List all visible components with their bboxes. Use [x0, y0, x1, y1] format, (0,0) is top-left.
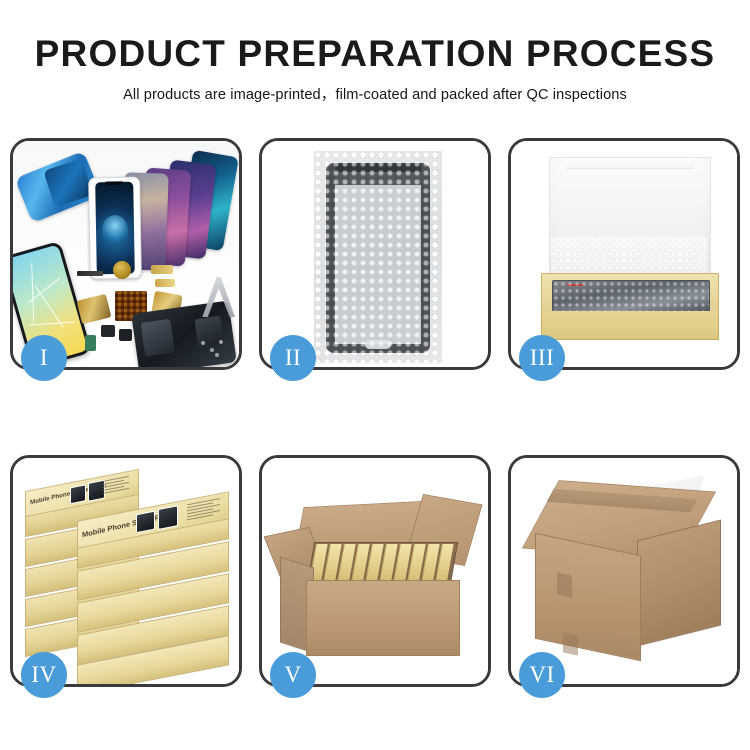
- label-spec-lines: [103, 475, 133, 496]
- wallpaper-glow: [102, 215, 129, 245]
- copper-coil-part: [113, 261, 131, 279]
- step-panel-6: VI: [508, 455, 740, 687]
- crack-line: [35, 285, 64, 327]
- phone-screen-fan: [81, 153, 231, 263]
- step-panel-5: V: [259, 455, 491, 687]
- step-badge-5: V: [270, 652, 316, 698]
- step-6-image: [511, 458, 737, 684]
- flex-cable-part: [151, 265, 173, 274]
- header: PRODUCT PREPARATION PROCESS All products…: [0, 34, 750, 104]
- steps-grid: I II: [10, 138, 740, 687]
- home-button: [365, 340, 391, 349]
- box-stack: Mobile Phone Spare Parts: [21, 480, 239, 676]
- page-title: PRODUCT PREPARATION PROCESS: [0, 34, 750, 74]
- flex-cable-part: [155, 279, 175, 287]
- carton-front-panel: [306, 580, 460, 656]
- wrapped-phone-screen: [326, 163, 430, 353]
- screws-group: [201, 339, 227, 357]
- small-component-part: [101, 325, 115, 337]
- tape-tab: [563, 632, 578, 655]
- product-preparation-infographic: PRODUCT PREPARATION PROCESS All products…: [0, 0, 750, 750]
- step-2-image: [262, 141, 488, 367]
- label-mark: [567, 284, 583, 286]
- tape-tab: [557, 572, 572, 597]
- sealed-carton-front: [535, 533, 641, 662]
- screw-icon: [201, 341, 205, 345]
- battery-connector-part: [85, 335, 96, 351]
- step-badge-2: II: [270, 335, 316, 381]
- step-1-image: [13, 141, 239, 367]
- step-3-image: [511, 141, 737, 367]
- label-spec-lines: [187, 497, 223, 522]
- ribbon-cable-part: [77, 294, 112, 325]
- screen-top-bezel: [335, 163, 421, 185]
- sealed-carton-right-side: [637, 520, 721, 647]
- label-phone-image: [136, 511, 155, 534]
- wrapped-screen-in-box: [552, 280, 710, 312]
- step-panel-4: Mobile Phone Spare Parts: [10, 455, 242, 687]
- step-badge-4: IV: [21, 652, 67, 698]
- screw-icon: [219, 340, 223, 344]
- screw-icon: [215, 353, 219, 357]
- label-phone-image: [70, 484, 86, 504]
- label-phone-image: [158, 505, 178, 530]
- step-4-image: Mobile Phone Spare Parts: [13, 458, 239, 684]
- screw-icon: [210, 348, 214, 352]
- step-panel-1: I: [10, 138, 242, 370]
- kraft-box-front-panel: [541, 311, 719, 340]
- step-badge-3: III: [519, 335, 565, 381]
- phone-notch: [105, 181, 123, 185]
- metal-strip-part: [77, 271, 103, 276]
- small-component-part: [119, 329, 132, 341]
- step-badge-6: VI: [519, 652, 565, 698]
- step-panel-2: II: [259, 138, 491, 370]
- step-panel-3: III: [508, 138, 740, 370]
- step-5-image: [262, 458, 488, 684]
- page-subtitle: All products are image-printed，film-coat…: [0, 83, 750, 104]
- crack-line: [29, 321, 75, 325]
- step-badge-1: I: [21, 335, 67, 381]
- crack-line: [31, 263, 34, 323]
